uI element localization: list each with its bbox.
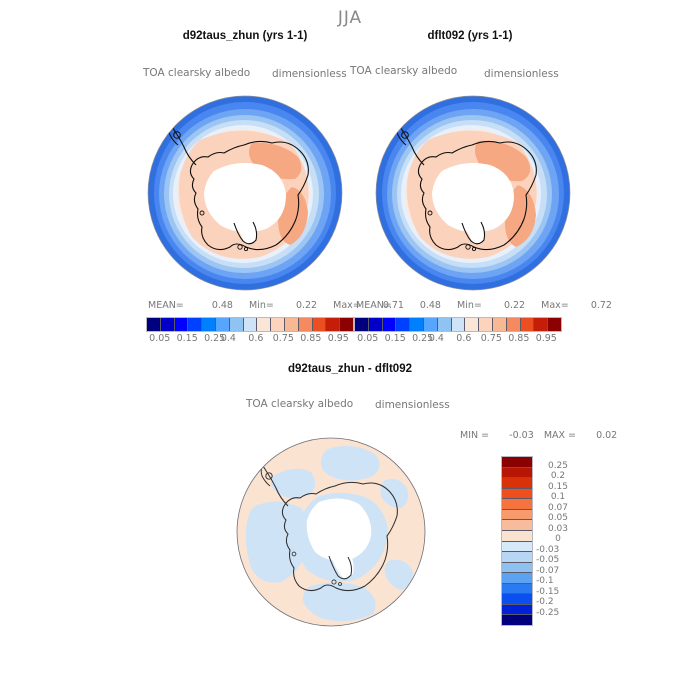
colorbar-segment — [502, 478, 532, 489]
colorbar-tick-label: -0.2 — [536, 597, 580, 607]
panel-difference-max-label: MAX = — [544, 430, 576, 441]
colorbar-segment — [340, 318, 353, 331]
panel-difference: d92taus_zhun - dflt092 — [240, 363, 460, 375]
panel-difference-units-label: dimensionless — [375, 399, 450, 411]
colorbar-segment — [502, 468, 532, 479]
colorbar-tick-label: 0.1 — [536, 492, 580, 502]
colorbar-segment — [313, 318, 327, 331]
panel-control-colorbar-ticks: 0.050.150.250.40.60.750.850.95 — [354, 333, 560, 347]
panel-control-max-label: Max= — [541, 300, 569, 311]
panel-test-min-label: Min= — [249, 300, 274, 311]
panel-test-colorbar-ticks: 0.050.150.250.40.60.750.850.95 — [146, 333, 352, 347]
panel-test-mean-label: MEAN= — [148, 300, 184, 311]
panel-control: dflt092 (yrs 1-1) — [360, 30, 580, 42]
panel-difference-colorbar[interactable] — [501, 456, 533, 626]
colorbar-segment — [244, 318, 258, 331]
colorbar-segment — [548, 318, 561, 331]
colorbar-segment — [502, 520, 532, 531]
globe-icon — [235, 436, 431, 632]
panel-difference-min-label: MIN = — [460, 430, 489, 441]
colorbar-segment — [396, 318, 410, 331]
panel-test-units-label: dimensionless — [272, 68, 347, 80]
colorbar-segment — [502, 510, 532, 521]
colorbar-segment — [175, 318, 189, 331]
panel-control-var-label: TOA clearsky albedo — [350, 65, 457, 77]
colorbar-tick-label: 0.15 — [536, 482, 580, 492]
colorbar-tick-label: -0.03 — [536, 545, 580, 555]
colorbar-segment — [507, 318, 521, 331]
panel-test-min-value: 0.22 — [296, 300, 317, 311]
colorbar-segment — [502, 605, 532, 616]
colorbar-segment — [271, 318, 285, 331]
panel-control-max-value: 0.72 — [591, 300, 612, 311]
colorbar-tick-label: -0.05 — [536, 555, 580, 565]
colorbar-segment — [502, 499, 532, 510]
panel-control-mean-label: MEAN= — [356, 300, 392, 311]
colorbar-segment — [493, 318, 507, 331]
panel-test-map — [140, 95, 350, 295]
colorbar-tick-label: -0.25 — [536, 608, 580, 618]
season-title: JJA — [0, 8, 700, 28]
colorbar-segment — [147, 318, 161, 331]
colorbar-segment — [369, 318, 383, 331]
colorbar-tick-label: 0.07 — [536, 503, 580, 513]
panel-control-min-value: 0.22 — [504, 300, 525, 311]
panel-test-var-label: TOA clearsky albedo — [143, 67, 250, 79]
figure-canvas: JJA d92taus_zhun (yrs 1-1) TOA clearsky … — [0, 0, 700, 700]
colorbar-segment — [230, 318, 244, 331]
colorbar-segment — [502, 615, 532, 625]
colorbar-segment — [383, 318, 397, 331]
colorbar-segment — [502, 531, 532, 542]
colorbar-segment — [479, 318, 493, 331]
colorbar-segment — [285, 318, 299, 331]
colorbar-segment — [502, 457, 532, 468]
panel-difference-colorbar-ticks: 0.250.20.150.10.070.050.030-0.03-0.05-0.… — [536, 456, 582, 624]
colorbar-segment — [161, 318, 175, 331]
colorbar-segment — [355, 318, 369, 331]
panel-test-stats: MEAN= 0.48 Min= 0.22 Max= 0.71 — [148, 300, 353, 311]
colorbar-segment — [410, 318, 424, 331]
panel-test: d92taus_zhun (yrs 1-1) — [135, 30, 355, 42]
colorbar-tick-label: 0 — [536, 534, 580, 544]
panel-difference-max-value: 0.02 — [596, 430, 617, 441]
panel-difference-stats: MIN = -0.03 MAX = 0.02 — [460, 430, 617, 441]
colorbar-segment — [257, 318, 271, 331]
panel-control-stats: MEAN= 0.48 Min= 0.22 Max= 0.72 — [356, 300, 561, 311]
colorbar-tick-label: 0.05 — [536, 513, 580, 523]
colorbar-segment — [502, 563, 532, 574]
colorbar-segment — [502, 489, 532, 500]
panel-difference-var-label: TOA clearsky albedo — [246, 398, 353, 410]
panel-test-mean-value: 0.48 — [212, 300, 233, 311]
colorbar-segment — [424, 318, 438, 331]
colorbar-tick-label: -0.15 — [536, 587, 580, 597]
panel-test-title: d92taus_zhun (yrs 1-1) — [135, 30, 355, 42]
panel-difference-title: d92taus_zhun - dflt092 — [240, 363, 460, 375]
colorbar-tick-label: 0.95 — [530, 333, 562, 344]
colorbar-tick-label: 0.95 — [322, 333, 354, 344]
colorbar-segment — [502, 594, 532, 605]
colorbar-segment — [452, 318, 466, 331]
colorbar-segment — [534, 318, 548, 331]
panel-control-colorbar[interactable] — [354, 317, 562, 332]
colorbar-segment — [438, 318, 452, 331]
panel-difference-map — [235, 436, 431, 632]
colorbar-tick-label: 0.25 — [536, 461, 580, 471]
colorbar-tick-label: 0.03 — [536, 524, 580, 534]
colorbar-segment — [465, 318, 479, 331]
panel-control-map — [368, 95, 578, 295]
panel-control-units-label: dimensionless — [484, 68, 559, 80]
panel-control-min-label: Min= — [457, 300, 482, 311]
globe-icon — [140, 95, 350, 295]
panel-control-title: dflt092 (yrs 1-1) — [360, 30, 580, 42]
colorbar-tick-label: -0.1 — [536, 576, 580, 586]
colorbar-segment — [502, 542, 532, 553]
colorbar-segment — [216, 318, 230, 331]
colorbar-segment — [188, 318, 202, 331]
colorbar-tick-label: -0.07 — [536, 566, 580, 576]
colorbar-segment — [326, 318, 340, 331]
globe-icon — [368, 95, 578, 295]
panel-difference-min-value: -0.03 — [509, 430, 534, 441]
colorbar-tick-label: 0.2 — [536, 471, 580, 481]
panel-control-mean-value: 0.48 — [420, 300, 441, 311]
panel-test-colorbar[interactable] — [146, 317, 354, 332]
colorbar-segment — [502, 573, 532, 584]
colorbar-segment — [521, 318, 535, 331]
colorbar-segment — [299, 318, 313, 331]
colorbar-segment — [202, 318, 216, 331]
colorbar-segment — [502, 584, 532, 595]
colorbar-segment — [502, 552, 532, 563]
